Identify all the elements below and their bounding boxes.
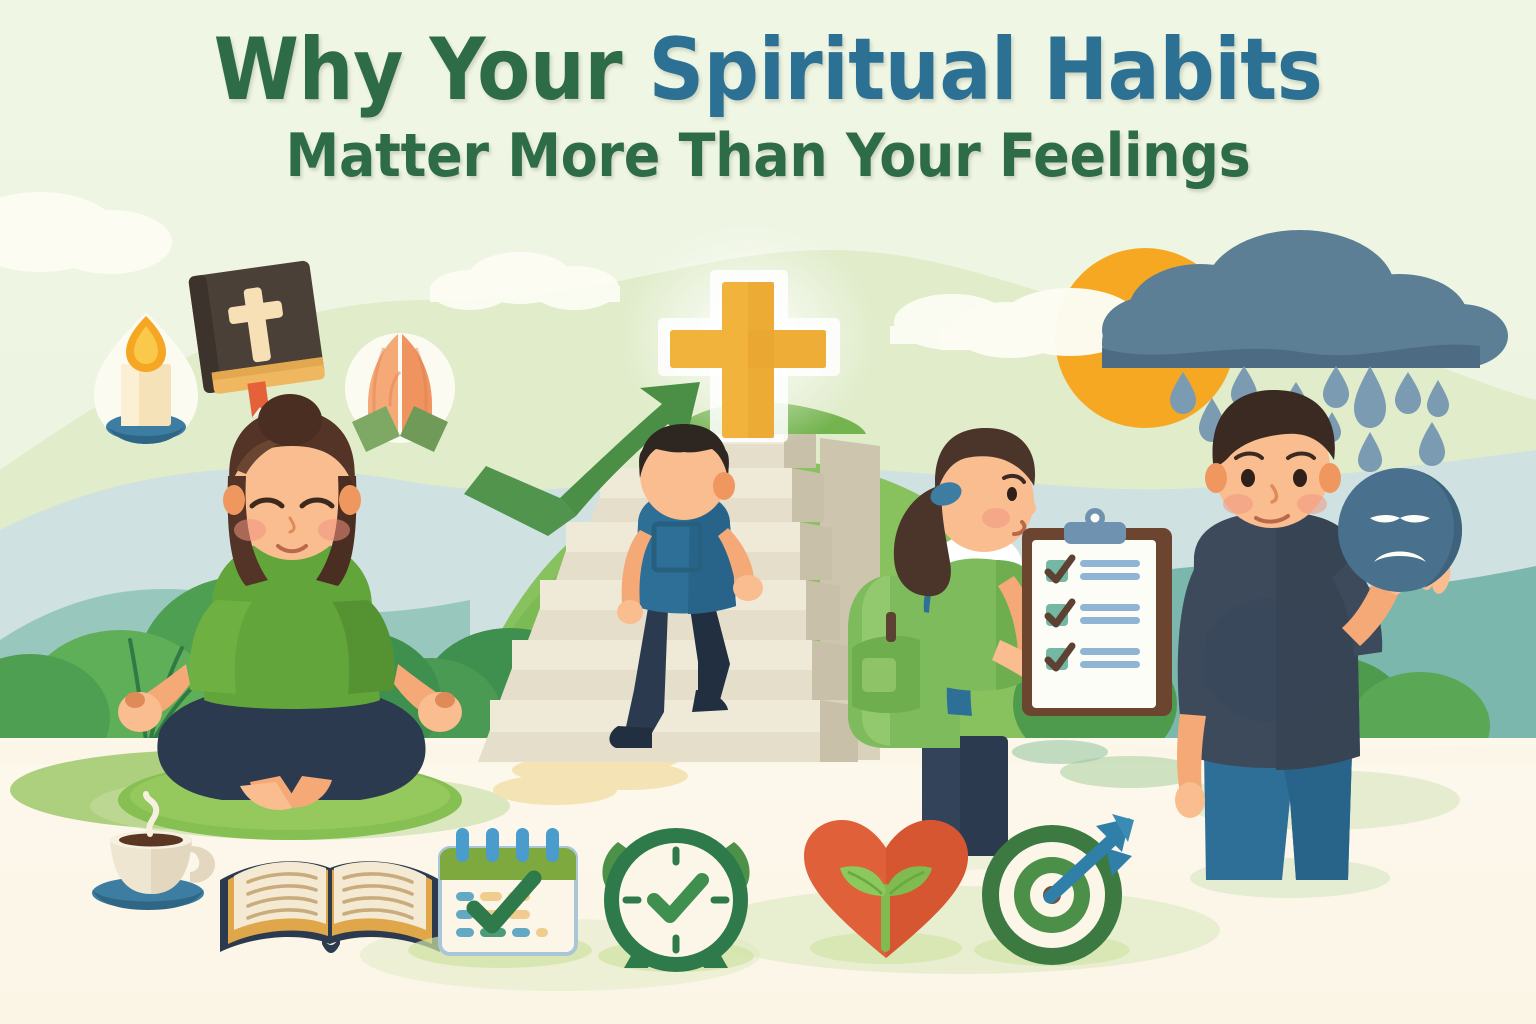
alarm-clock-icon bbox=[598, 828, 754, 972]
open-book-icon bbox=[220, 861, 440, 953]
scene-illustration bbox=[0, 0, 1536, 1024]
illustration-canvas: Why Your Spiritual Habits Matter More Th… bbox=[0, 0, 1536, 1024]
checklist-clipboard bbox=[1022, 508, 1172, 716]
praying-hands-icon bbox=[345, 333, 455, 452]
